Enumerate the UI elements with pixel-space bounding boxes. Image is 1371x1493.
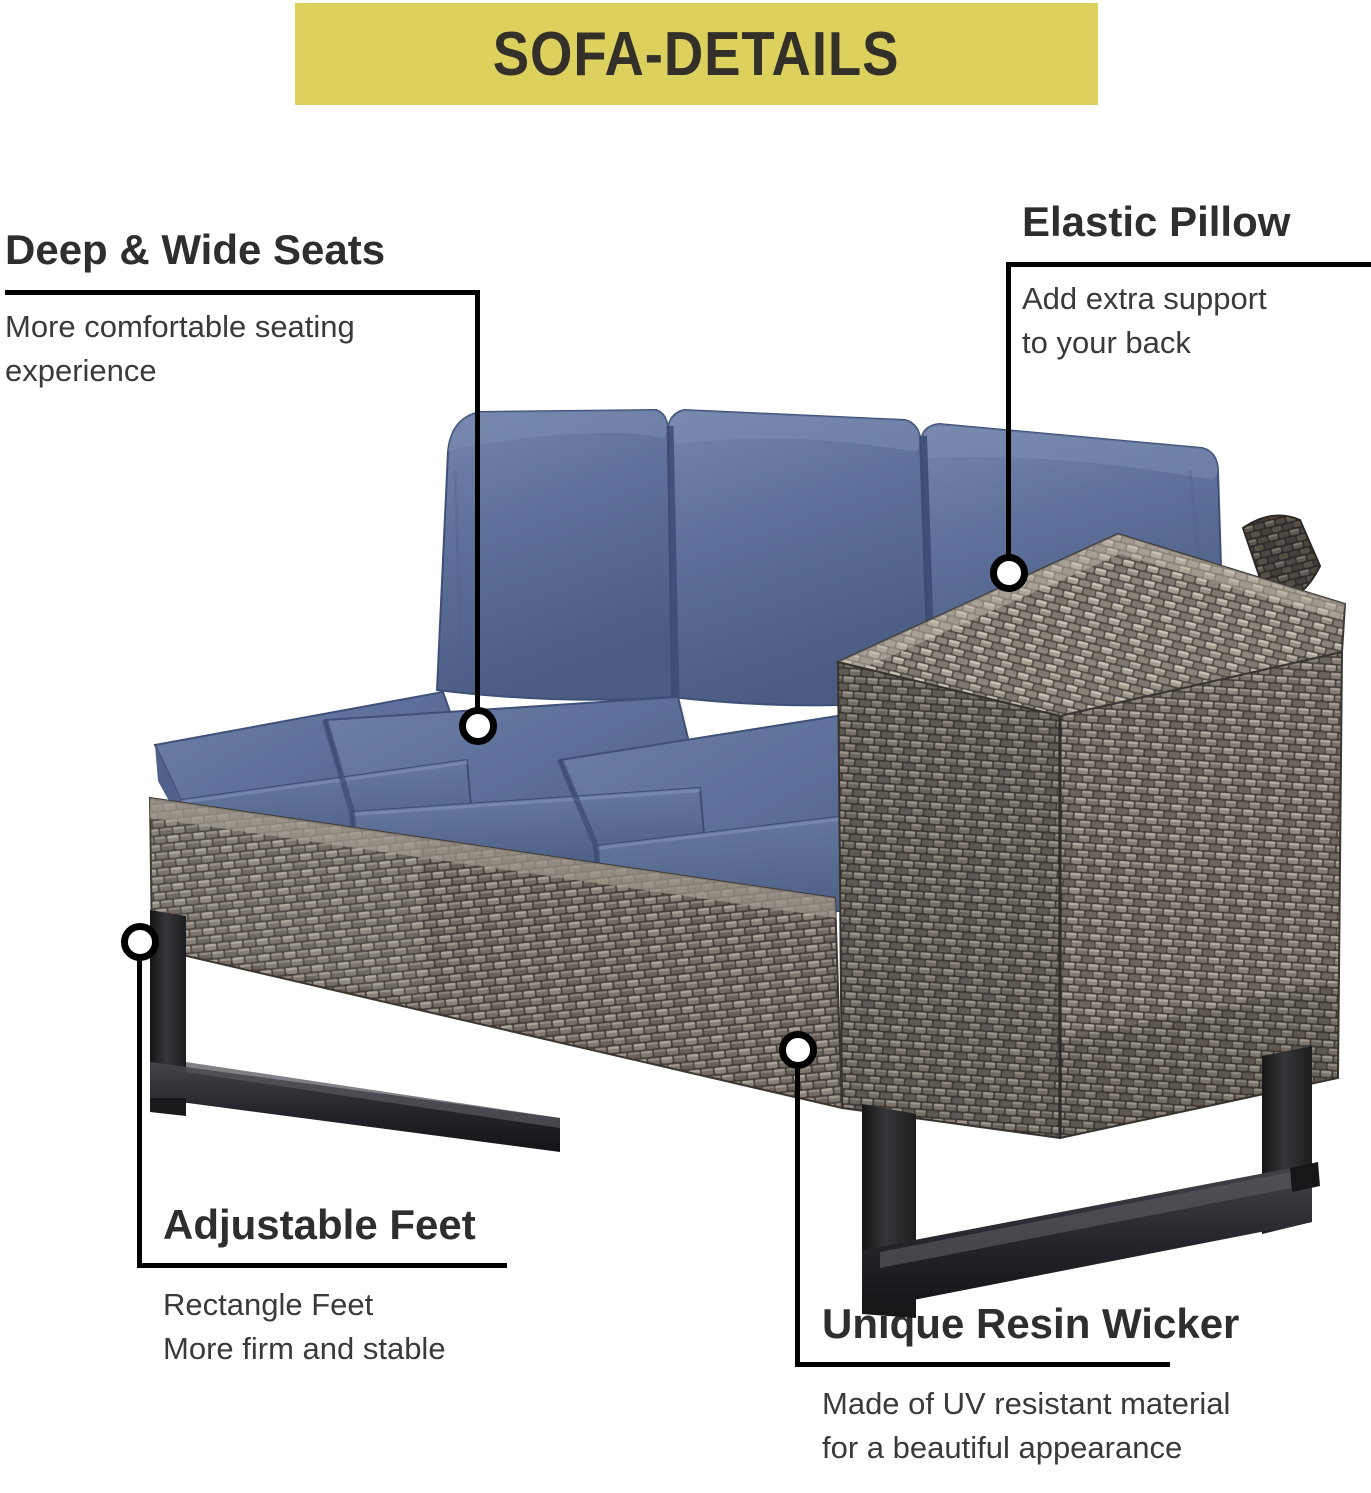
callout-marker-unique-resin-wicker bbox=[779, 1031, 817, 1069]
product-image-sofa bbox=[0, 0, 1371, 1488]
callout-marker-elastic-pillow bbox=[990, 554, 1028, 592]
callout-marker-adjustable-feet bbox=[121, 923, 159, 961]
callout-leader-line-deep-wide-seats bbox=[475, 290, 480, 726]
callout-marker-deep-wide-seats bbox=[459, 707, 497, 745]
callout-leader-line-adjustable-feet bbox=[137, 960, 142, 1268]
callout-leader-line-elastic-pillow bbox=[1006, 262, 1011, 574]
callout-leader-line-unique-resin-wicker bbox=[795, 1068, 800, 1367]
